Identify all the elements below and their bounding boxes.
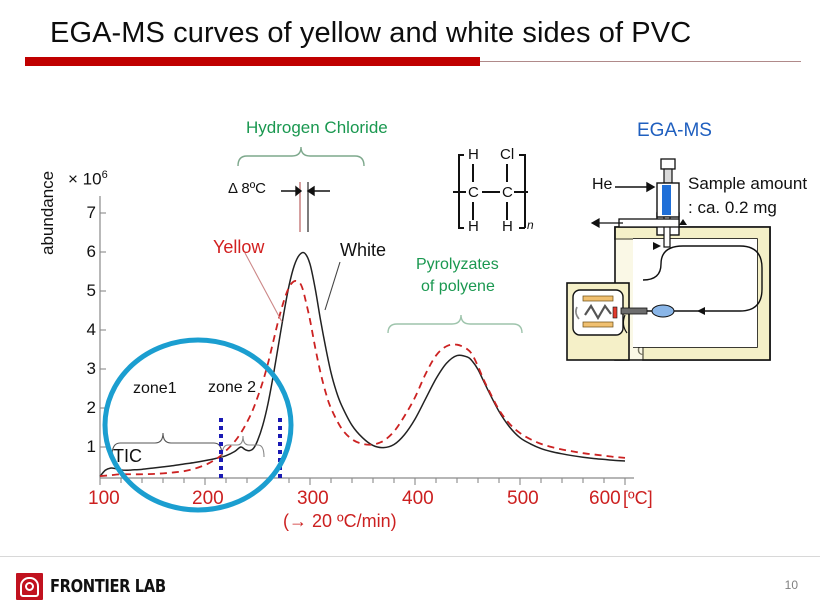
y-tick-1: 1 [80, 437, 96, 457]
bond-h-c-left [472, 164, 474, 182]
ega-ms-title: EGA-MS [637, 120, 712, 142]
title-rule-thin [480, 61, 801, 62]
structure-atom-h-bottom-left: H [468, 218, 479, 235]
bracket-right-bottom [519, 227, 525, 229]
tic-label: TIC [113, 446, 142, 467]
delta-arrow-right [308, 187, 330, 195]
y-axis-multiplier: × 106 [68, 169, 108, 190]
x-tick-600: 600 [589, 488, 621, 510]
delta-arrow-left [281, 187, 301, 195]
y-axis-ticks [100, 213, 106, 447]
curve-yellow [100, 281, 625, 476]
page-title: EGA-MS curves of yellow and white sides … [50, 17, 691, 50]
brand-name: FRONTIER LAB [50, 576, 166, 597]
frontier-lab-icon [16, 573, 43, 600]
pvc-structure: H Cl C C H H n [452, 146, 547, 238]
structure-atom-h-top-left: H [468, 146, 479, 163]
zone1-label: zone1 [133, 380, 177, 398]
yellow-leader-line [245, 253, 282, 322]
split-vent-line [619, 219, 679, 227]
seal-right [679, 219, 687, 225]
x-tick-100: 100 [88, 488, 120, 510]
bracket-left-top [458, 154, 464, 156]
bond-c-h-left [472, 202, 474, 220]
sample-cup-top [661, 159, 675, 169]
bond-right-open [514, 191, 528, 193]
x-tick-300: 300 [297, 488, 329, 510]
white-series-label: White [340, 240, 386, 261]
zone2-brace [222, 436, 264, 457]
bond-c-c [482, 191, 500, 193]
highlight-ellipse [105, 340, 291, 510]
ms-quad-top [583, 296, 613, 301]
structure-subscript-n: n [527, 218, 534, 232]
hydrogen-chloride-label: Hydrogen Chloride [246, 118, 388, 138]
brand-logo: FRONTIER LAB [16, 573, 191, 600]
structure-atom-c-left: C [468, 184, 479, 201]
y-tick-5: 5 [80, 281, 96, 301]
y-exponent-text: 6 [102, 169, 108, 181]
zone2-label: zone 2 [208, 379, 256, 397]
ms-transfer-line [621, 308, 647, 314]
bracket-right-top [519, 154, 525, 156]
delta-label: Δ 8ºC [228, 180, 266, 197]
split-vent-arrow [592, 219, 623, 227]
ega-ms-schematic [565, 155, 820, 370]
slide: EGA-MS curves of yellow and white sides … [0, 0, 820, 611]
pyrolyzates-brace [388, 315, 522, 333]
ms-detector [613, 307, 617, 318]
y-tick-4: 4 [80, 320, 96, 340]
white-leader-line [325, 262, 340, 310]
sample-rod [664, 169, 672, 183]
he-inlet-arrow [615, 183, 654, 191]
title-rule-thick [25, 57, 480, 66]
bond-cl-c-right [506, 164, 508, 182]
yellow-series-label: Yellow [213, 237, 264, 258]
bracket-left-bottom [458, 227, 464, 229]
curve-white [100, 253, 625, 477]
x-tick-500: 500 [507, 488, 539, 510]
page-number: 10 [785, 578, 798, 592]
y-tick-2: 2 [80, 398, 96, 418]
x-tick-200: 200 [192, 488, 224, 510]
x-axis-label: [ºC] [623, 488, 653, 509]
bracket-right-vertical [524, 154, 526, 228]
bond-c-h-right [506, 202, 508, 220]
hcl-brace [238, 147, 364, 166]
pyrolyzer-heater [662, 185, 671, 215]
y-axis-label: abundance [38, 171, 58, 255]
structure-atom-cl: Cl [500, 146, 514, 163]
y-tick-7: 7 [80, 203, 96, 223]
y-tick-3: 3 [80, 359, 96, 379]
ms-quad-bottom [583, 322, 613, 327]
structure-atom-c-right: C [502, 184, 513, 201]
x-axis-rate-note: (→ 20 ºC/min) [283, 511, 397, 532]
column-ferrule [652, 305, 674, 317]
bracket-left-vertical [458, 154, 460, 228]
pyrolyzates-label-line2: of polyene [421, 278, 495, 296]
structure-atom-h-bottom-right: H [502, 218, 513, 235]
x-tick-400: 400 [402, 488, 434, 510]
footer-divider [0, 556, 820, 557]
bond-left-open [453, 191, 466, 193]
pyrolyzates-label-line1: Pyrolyzates [416, 256, 499, 274]
y-tick-6: 6 [80, 242, 96, 262]
y-multiplier-text: × 10 [68, 170, 102, 189]
x-axis-ticks [100, 478, 625, 485]
